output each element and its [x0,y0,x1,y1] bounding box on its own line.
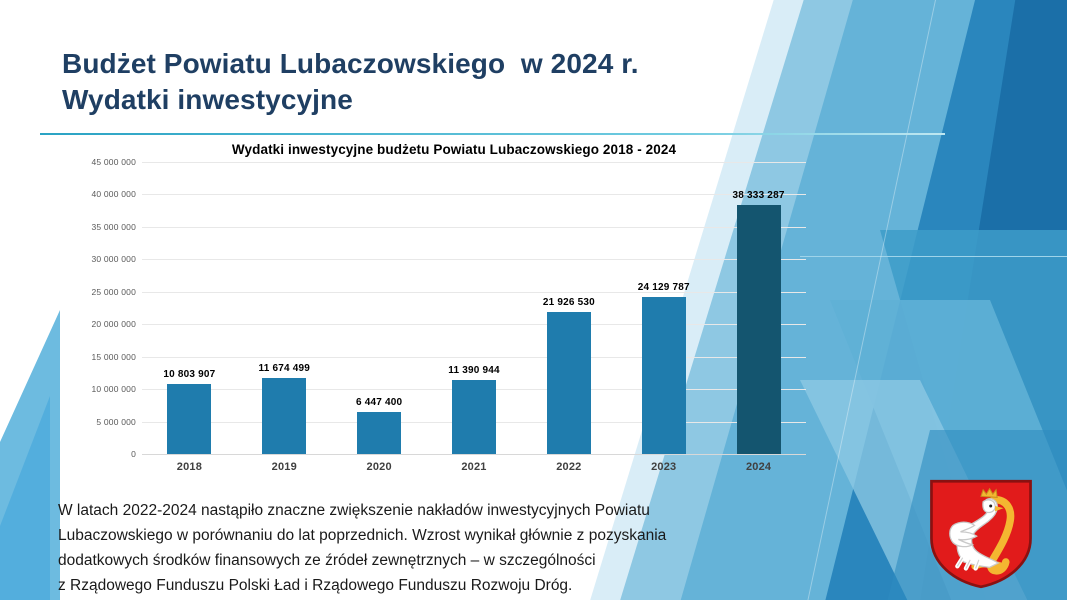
bar-series: 10 803 90711 674 4996 447 40011 390 9442… [142,162,806,454]
bar-2023[interactable]: 24 129 787 [642,297,686,454]
bar-value-label: 38 333 287 [733,190,785,201]
page-title: Budżet Powiatu Lubaczowskiego w 2024 r. … [62,46,782,118]
bar-slot: 24 129 787 [616,162,711,454]
paragraph-line-3: dodatkowych środków finansowych ze źróde… [58,548,888,573]
slide: Budżet Powiatu Lubaczowskiego w 2024 r. … [0,0,1067,600]
chart-plot-area: 10 803 90711 674 4996 447 40011 390 9442… [142,162,806,454]
y-axis-tick-label: 35 000 000 [91,222,136,232]
bar-slot: 11 390 944 [427,162,522,454]
y-axis-tick-label: 30 000 000 [91,254,136,264]
bar-value-label: 24 129 787 [638,282,690,293]
x-axis-tick-2021: 2021 [427,456,522,478]
x-axis-tick-2020: 2020 [332,456,427,478]
description-paragraph: W latach 2022-2024 nastąpiło znaczne zwi… [58,498,888,598]
bar-slot: 10 803 907 [142,162,237,454]
bar-2019[interactable]: 11 674 499 [262,378,306,454]
gridline [142,454,806,455]
bar-slot: 6 447 400 [332,162,427,454]
page-title-line-2: Wydatki inwestycyjne [62,82,782,118]
x-axis-tick-2019: 2019 [237,456,332,478]
bar-2022[interactable]: 21 926 530 [547,312,591,454]
bar-chart: Wydatki inwestycyjne budżetu Powiatu Lub… [66,140,806,480]
x-axis-labels: 2018201920202021202220232024 [142,456,806,478]
bar-value-label: 11 674 499 [259,363,311,374]
y-axis-tick-label: 45 000 000 [91,157,136,167]
bar-2021[interactable]: 11 390 944 [452,380,496,454]
chart-plot-wrapper: 45 000 00040 000 00035 000 00030 000 000… [66,162,806,480]
bar-2024[interactable]: 38 333 287 [737,205,781,454]
y-axis-tick-label: 40 000 000 [91,189,136,199]
paragraph-line-2: Lubaczowskiego w porównaniu do lat poprz… [58,523,888,548]
bar-value-label: 10 803 907 [163,369,215,380]
bar-slot: 11 674 499 [237,162,332,454]
bar-slot: 21 926 530 [521,162,616,454]
x-axis-tick-2024: 2024 [711,456,806,478]
y-axis-tick-label: 25 000 000 [91,287,136,297]
y-axis-tick-label: 20 000 000 [91,319,136,329]
bar-2018[interactable]: 10 803 907 [167,384,211,454]
bar-slot: 38 333 287 [711,162,806,454]
bar-value-label: 21 926 530 [543,297,595,308]
x-axis-tick-2022: 2022 [521,456,616,478]
bar-value-label: 6 447 400 [356,397,402,408]
bar-value-label: 11 390 944 [448,365,500,376]
bg-shape-left-triangle [0,310,60,600]
bg-shape-left-triangle-inner [0,370,50,600]
y-axis-tick-label: 15 000 000 [91,352,136,362]
bg-hairline [800,256,1067,257]
x-axis-tick-2018: 2018 [142,456,237,478]
paragraph-line-1: W latach 2022-2024 nastąpiło znaczne zwi… [58,498,888,523]
title-divider [40,133,945,135]
y-axis-tick-label: 0 [131,449,136,459]
coat-of-arms-icon [925,478,1037,590]
bar-2020[interactable]: 6 447 400 [357,412,401,454]
y-axis-labels: 45 000 00040 000 00035 000 00030 000 000… [66,162,140,454]
y-axis-tick-label: 10 000 000 [91,384,136,394]
page-title-line-1: Budżet Powiatu Lubaczowskiego w 2024 r. [62,46,782,82]
coat-of-arms-svg [925,478,1037,590]
x-axis-tick-2023: 2023 [616,456,711,478]
y-axis-tick-label: 5 000 000 [96,417,136,427]
chart-title: Wydatki inwestycyjne budżetu Powiatu Lub… [102,140,806,160]
paragraph-line-4: z Rządowego Funduszu Polski Ład i Rządow… [58,573,888,598]
